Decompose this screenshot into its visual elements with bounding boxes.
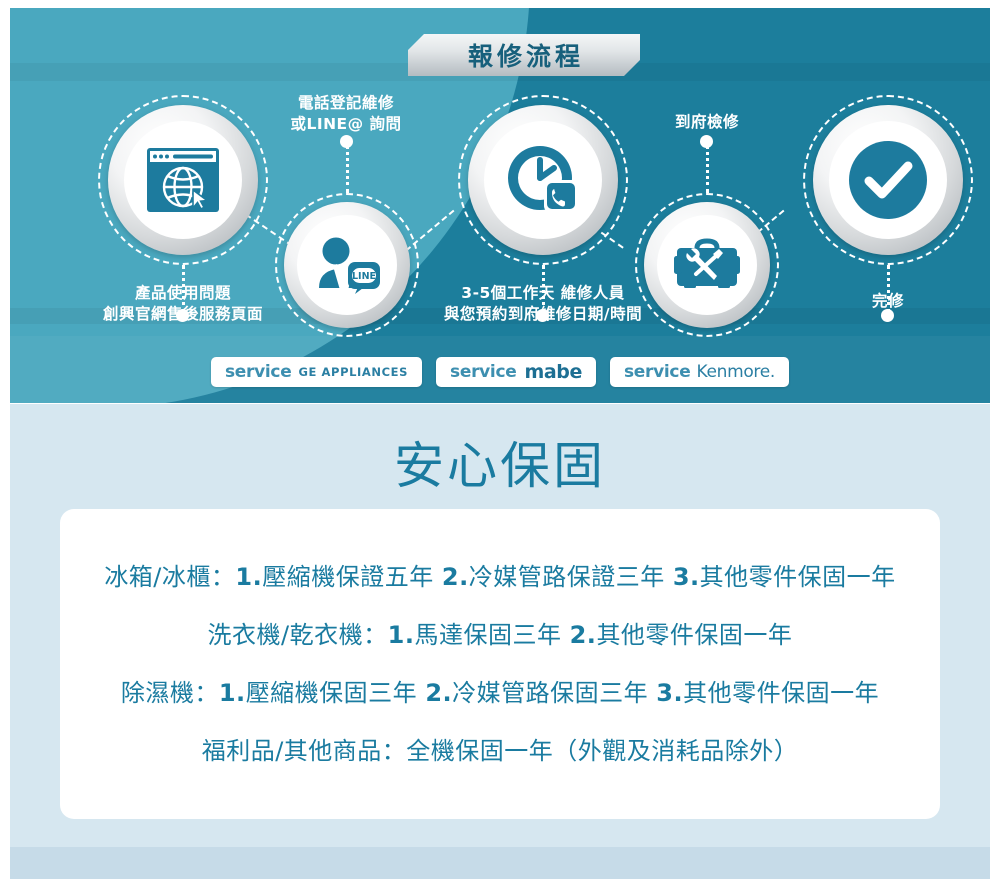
warranty-text-run: 冷媒管路保證三年 <box>469 563 673 591</box>
warranty-item-number: 1. <box>235 563 262 591</box>
warranty-card: 冰箱/冰櫃：1.壓縮機保證五年 2.冷媒管路保證三年 3.其他零件保固一年 洗衣… <box>60 509 940 819</box>
warranty-item-number: 1. <box>219 679 246 707</box>
badge-brand-name: mabe <box>524 361 582 383</box>
warranty-item-number: 3. <box>656 679 683 707</box>
check-circle-icon <box>829 121 947 239</box>
warranty-text-run: 壓縮機保證五年 <box>262 563 442 591</box>
flow-step-5[interactable] <box>803 95 973 265</box>
repair-flow-panel: 產品使用問題 創興官網售後服務頁面 LINE <box>10 8 990 403</box>
warranty-item-number: 2. <box>570 621 597 649</box>
page-title: 報修流程 <box>464 37 584 73</box>
badge-service-word: service <box>450 362 516 382</box>
flow-step-4[interactable] <box>635 193 779 337</box>
warranty-item-number: 3. <box>673 563 700 591</box>
clock-phone-icon <box>484 121 602 239</box>
warranty-item-number: 2. <box>425 679 452 707</box>
flow-step-5-caption: 完修 <box>738 291 990 312</box>
agent-line-chat-icon: LINE <box>297 215 397 315</box>
warranty-line: 福利品/其他商品：全機保固一年（外觀及消耗品除外） <box>60 722 940 780</box>
warranty-text-run: 洗衣機/乾衣機： <box>208 621 388 649</box>
badge-ge-appliances[interactable]: service GE APPLIANCES <box>211 357 422 387</box>
badge-mabe[interactable]: service mabe <box>436 357 596 387</box>
bottom-strip <box>10 847 990 879</box>
caption-line: 或LINE@ 詢問 <box>196 114 496 135</box>
infographic-page: 產品使用問題 創興官網售後服務頁面 LINE <box>0 0 1000 887</box>
warranty-item-number: 1. <box>388 621 415 649</box>
warranty-title: 安心保固 <box>10 426 990 498</box>
badge-service-word: service <box>624 362 690 382</box>
warranty-text-run: 其他零件保固一年 <box>596 621 792 649</box>
browser-globe-icon <box>124 121 242 239</box>
warranty-text-run: 福利品/其他商品：全機保固一年（外觀及消耗品除外） <box>202 737 799 765</box>
warranty-text-run: 冰箱/冰櫃： <box>104 563 235 591</box>
warranty-line: 洗衣機/乾衣機：1.馬達保固三年 2.其他零件保固一年 <box>60 606 940 664</box>
badge-brand-name: Kenmore. <box>696 362 775 382</box>
warranty-text-run: 其他零件保固一年 <box>683 679 879 707</box>
warranty-text-run: 馬達保固三年 <box>414 621 569 649</box>
stem-line <box>346 145 349 193</box>
warranty-text-run: 壓縮機保固三年 <box>246 679 426 707</box>
warranty-text-run: 冷媒管路保固三年 <box>452 679 656 707</box>
stem-dot <box>700 135 713 148</box>
caption-line: 完修 <box>738 291 990 312</box>
badge-brand-name: GE APPLIANCES <box>298 365 408 379</box>
warranty-item-number: 2. <box>442 563 469 591</box>
stem-line <box>706 145 709 193</box>
service-brand-badges: service GE APPLIANCES service mabe servi… <box>10 357 990 387</box>
badge-kenmore[interactable]: service Kenmore. <box>610 357 789 387</box>
warranty-line: 除濕機：1.壓縮機保固三年 2.冷媒管路保固三年 3.其他零件保固一年 <box>60 664 940 722</box>
stem-dot <box>340 135 353 148</box>
warranty-line: 冰箱/冰櫃：1.壓縮機保證五年 2.冷媒管路保證三年 3.其他零件保固一年 <box>60 548 940 606</box>
flow-step-2-caption: 電話登記維修 或LINE@ 詢問 <box>196 93 496 135</box>
warranty-text-run: 其他零件保固一年 <box>700 563 896 591</box>
caption-line: 電話登記維修 <box>196 93 496 114</box>
warranty-panel: 安心保固 冰箱/冰櫃：1.壓縮機保證五年 2.冷媒管路保證三年 3.其他零件保固… <box>10 404 990 879</box>
badge-service-word: service <box>225 362 291 382</box>
section-title-ribbon: 報修流程 <box>408 34 640 76</box>
warranty-text-run: 除濕機： <box>121 679 219 707</box>
svg-text:LINE: LINE <box>352 271 376 282</box>
